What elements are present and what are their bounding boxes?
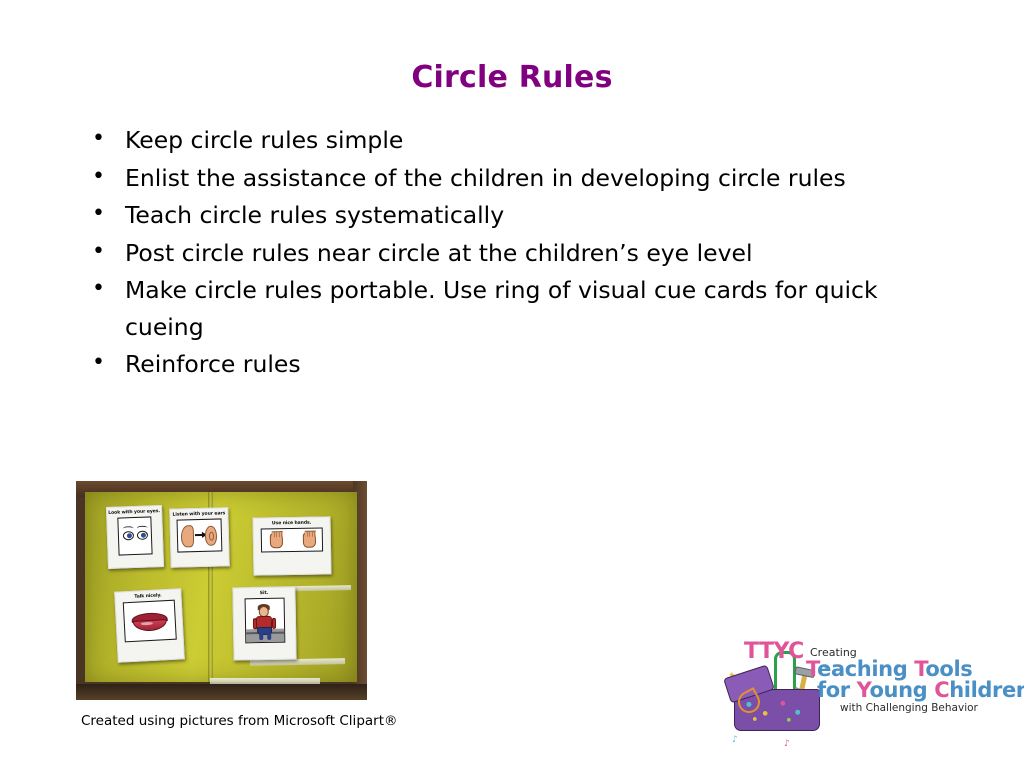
cue-card-listen-with-your-ears: Listen with your ears [169,507,230,568]
list-item: Make circle rules portable. Use ring of … [78,272,948,345]
cue-card-use-nice-hands: Use nice hands. [252,516,331,575]
logo-line-for-young-children: for Young Children [817,680,972,701]
list-item: Teach circle rules systematically [78,197,948,234]
list-item: Enlist the assistance of the children in… [78,160,948,197]
sparkle-icon: ♪ [732,735,738,745]
cue-card-label: Sit. [233,590,294,597]
cue-card-look-with-your-eyes: Look with your eyes. [106,505,164,569]
logo-cap-y: Y [857,678,870,702]
cue-card-label: Look with your eyes. [107,509,161,517]
logo-text-oung: oung [870,678,928,702]
sitting-child-icon [244,598,285,644]
photo-caption: Created using pictures from Microsoft Cl… [81,713,398,729]
page-title: Circle Rules [0,60,1024,95]
eyes-icon [117,516,152,555]
ttyc-logo: TTYC ✦ ✦ ♪ ♪ Creating Teaching Tools for… [722,637,972,739]
cue-card-sit: Sit. [232,586,296,660]
logo-tagline: with Challenging Behavior [840,701,972,715]
table-surface-bottom [76,684,367,700]
sparkle-icon: ♪ [784,739,790,749]
logo-wordmark: Creating Teaching Tools for Young Childr… [806,647,972,715]
hands-icon [261,527,323,552]
ear-icon [177,518,223,552]
list-item: Post circle rules near circle at the chi… [78,235,948,272]
list-item: Keep circle rules simple [78,122,948,159]
circle-rules-bullet-list: Keep circle rules simple Enlist the assi… [78,122,948,384]
logo-cap-c: C [934,678,949,702]
folder-pocket-strip [210,678,320,684]
logo-text-for: for [817,678,857,702]
ttyc-acronym: TTYC [744,639,804,664]
logo-line-teaching-tools: Teaching Tools [806,659,972,680]
visual-cue-cards-photo: Look with your eyes. Listen with your ea… [76,481,367,700]
logo-cap-t: T [806,657,817,681]
list-item: Reinforce rules [78,346,948,383]
yellow-folder: Look with your eyes. Listen with your ea… [85,492,357,682]
lips-icon [122,600,176,643]
logo-text-hildren: hildren [949,678,1024,702]
cue-card-talk-nicely: Talk nicely. [114,588,185,662]
